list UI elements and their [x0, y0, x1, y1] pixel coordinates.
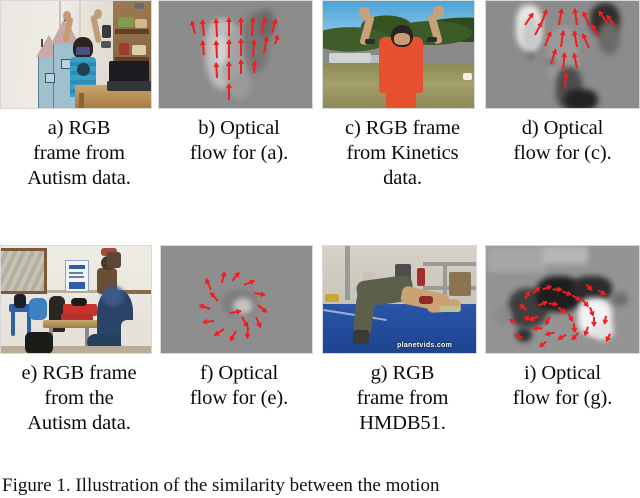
panel-cell-a: a) RGB frame from Autism data.: [0, 0, 158, 232]
panel-cell-e: e) RGB frame from the Autism data.: [0, 245, 158, 465]
panel-caption-e: e) RGB frame from the Autism data.: [0, 354, 158, 436]
panel-image-d: [485, 0, 640, 109]
panel-cell-f: f) Optical flow for (e).: [158, 245, 320, 465]
panel-image-c: [322, 0, 475, 109]
figure-container: a) RGB frame from Autism data.: [0, 0, 640, 489]
panel-cell-b: b) Optical flow for (a).: [158, 0, 320, 232]
panel-cell-i: i) Optical flow for (g).: [485, 245, 640, 465]
panel-image-g: planetvids.com: [322, 245, 477, 354]
figure-caption: Figure 1. Illustration of the similarity…: [0, 474, 640, 498]
panel-caption-a: a) RGB frame from Autism data.: [0, 109, 158, 191]
panel-caption-d: d) Optical flow for (c).: [485, 109, 640, 166]
panel-image-e: [0, 245, 152, 354]
panel-image-a: [0, 0, 152, 109]
figure-row-2: e) RGB frame from the Autism data.: [0, 245, 640, 465]
panel-cell-c: c) RGB frame from Kinetics data.: [320, 0, 485, 232]
figure-row-1: a) RGB frame from Autism data.: [0, 0, 640, 232]
panel-caption-c: c) RGB frame from Kinetics data.: [320, 109, 485, 191]
panel-caption-b: b) Optical flow for (a).: [158, 109, 320, 166]
watermark-label: planetvids.com: [397, 342, 452, 349]
panel-caption-g: g) RGB frame from HMDB51.: [320, 354, 485, 436]
panel-cell-g: planetvids.com g) RGB frame from HMDB51.: [320, 245, 485, 465]
panel-image-f: [160, 245, 313, 354]
panel-image-b: [158, 0, 313, 109]
panel-cell-d: d) Optical flow for (c).: [485, 0, 640, 232]
panel-caption-i: i) Optical flow for (g).: [485, 354, 640, 411]
panel-caption-f: f) Optical flow for (e).: [158, 354, 320, 411]
panel-image-i: [485, 245, 640, 354]
